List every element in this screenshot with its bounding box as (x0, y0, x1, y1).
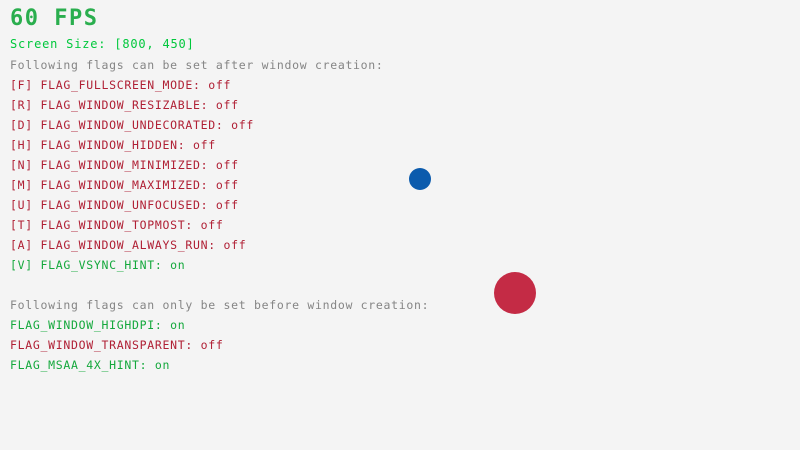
flag-name: FLAG_FULLSCREEN_MODE: (41, 78, 209, 92)
flag-row-runtime-3[interactable]: [H] FLAG_WINDOW_HIDDEN: off (10, 138, 216, 152)
flag-value: on (170, 258, 185, 272)
flag-key: [M] (10, 178, 41, 192)
flag-row-creation-0[interactable]: FLAG_WINDOW_HIGHDPI: on (10, 318, 185, 332)
flag-key: [F] (10, 78, 41, 92)
flag-value: off (216, 98, 239, 112)
flag-name: FLAG_WINDOW_UNFOCUSED: (41, 198, 216, 212)
screen-size-label: Screen Size: [800, 450] (10, 37, 195, 51)
flag-row-runtime-5[interactable]: [M] FLAG_WINDOW_MAXIMIZED: off (10, 178, 239, 192)
fps-counter: 60 FPS (10, 6, 98, 31)
flag-value: off (231, 118, 254, 132)
flag-key: [T] (10, 218, 41, 232)
flag-row-creation-1[interactable]: FLAG_WINDOW_TRANSPARENT: off (10, 338, 223, 352)
flag-name: FLAG_WINDOW_RESIZABLE: (41, 98, 216, 112)
flag-value: off (216, 198, 239, 212)
flag-row-runtime-6[interactable]: [U] FLAG_WINDOW_UNFOCUSED: off (10, 198, 239, 212)
flag-value: off (193, 138, 216, 152)
flag-name: FLAG_WINDOW_UNDECORATED: (41, 118, 232, 132)
flag-name: FLAG_WINDOW_TOPMOST: (41, 218, 201, 232)
flag-value: on (155, 358, 170, 372)
flag-key: [A] (10, 238, 41, 252)
flag-name: FLAG_WINDOW_HIDDEN: (41, 138, 193, 152)
flag-name: FLAG_WINDOW_MINIMIZED: (41, 158, 216, 172)
flag-row-runtime-2[interactable]: [D] FLAG_WINDOW_UNDECORATED: off (10, 118, 254, 132)
flag-row-creation-2[interactable]: FLAG_MSAA_4X_HINT: on (10, 358, 170, 372)
red-circle (494, 272, 536, 314)
flag-row-runtime-1[interactable]: [R] FLAG_WINDOW_RESIZABLE: off (10, 98, 239, 112)
flag-name: FLAG_VSYNC_HINT: (41, 258, 171, 272)
flag-row-runtime-8[interactable]: [A] FLAG_WINDOW_ALWAYS_RUN: off (10, 238, 246, 252)
flag-value: off (216, 178, 239, 192)
flag-value: on (170, 318, 185, 332)
flag-name: FLAG_WINDOW_ALWAYS_RUN: (41, 238, 224, 252)
flag-key: [U] (10, 198, 41, 212)
flag-key: [R] (10, 98, 41, 112)
flag-key: [N] (10, 158, 41, 172)
flag-row-runtime-0[interactable]: [F] FLAG_FULLSCREEN_MODE: off (10, 78, 231, 92)
flag-value: off (201, 218, 224, 232)
flag-value: off (223, 238, 246, 252)
flag-key: [V] (10, 258, 41, 272)
flag-value: off (216, 158, 239, 172)
runtime-flags-heading: Following flags can be set after window … (10, 58, 384, 72)
flag-name: FLAG_WINDOW_HIGHDPI: (10, 318, 170, 332)
flag-key: [H] (10, 138, 41, 152)
flag-name: FLAG_WINDOW_MAXIMIZED: (41, 178, 216, 192)
blue-circle (409, 168, 431, 190)
flag-key: [D] (10, 118, 41, 132)
flag-name: FLAG_MSAA_4X_HINT: (10, 358, 155, 372)
flag-value: off (208, 78, 231, 92)
flag-value: off (201, 338, 224, 352)
flag-row-runtime-7[interactable]: [T] FLAG_WINDOW_TOPMOST: off (10, 218, 223, 232)
flag-name: FLAG_WINDOW_TRANSPARENT: (10, 338, 201, 352)
app-window: 60 FPS Screen Size: [800, 450] Following… (0, 0, 800, 450)
creation-flags-heading: Following flags can only be set before w… (10, 298, 429, 312)
flag-row-runtime-4[interactable]: [N] FLAG_WINDOW_MINIMIZED: off (10, 158, 239, 172)
flag-row-runtime-9[interactable]: [V] FLAG_VSYNC_HINT: on (10, 258, 185, 272)
